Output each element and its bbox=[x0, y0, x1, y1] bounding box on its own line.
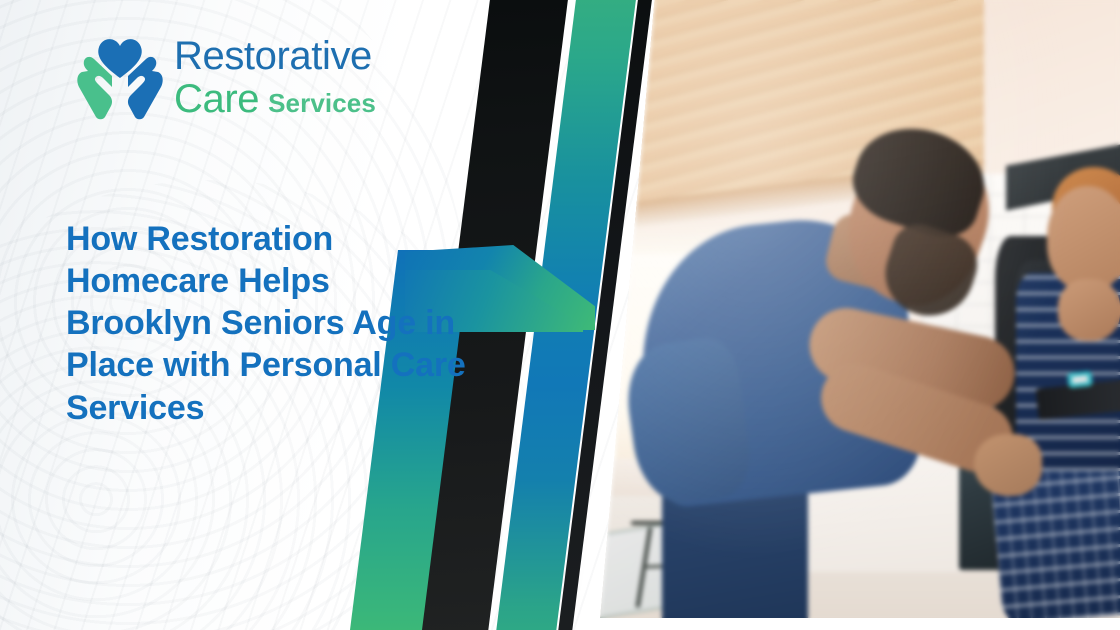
photo-bottom-strip bbox=[600, 618, 1120, 630]
hero-photo bbox=[600, 0, 1120, 620]
brand-name-line1: Restorative bbox=[174, 36, 376, 76]
photo-light-overlay bbox=[600, 0, 1120, 620]
hero-banner: Restorative Care Services How Restoratio… bbox=[0, 0, 1120, 630]
brand-logo[interactable]: Restorative Care Services bbox=[74, 34, 376, 120]
hands-holding-heart-icon bbox=[74, 34, 166, 120]
brand-name-line2: Care Services bbox=[174, 79, 376, 119]
brand-name-care: Care bbox=[174, 79, 259, 119]
brand-wordmark: Restorative Care Services bbox=[174, 36, 376, 119]
brand-name-services: Services bbox=[268, 90, 376, 116]
hero-headline: How Restoration Homecare Helps Brooklyn … bbox=[66, 218, 466, 429]
